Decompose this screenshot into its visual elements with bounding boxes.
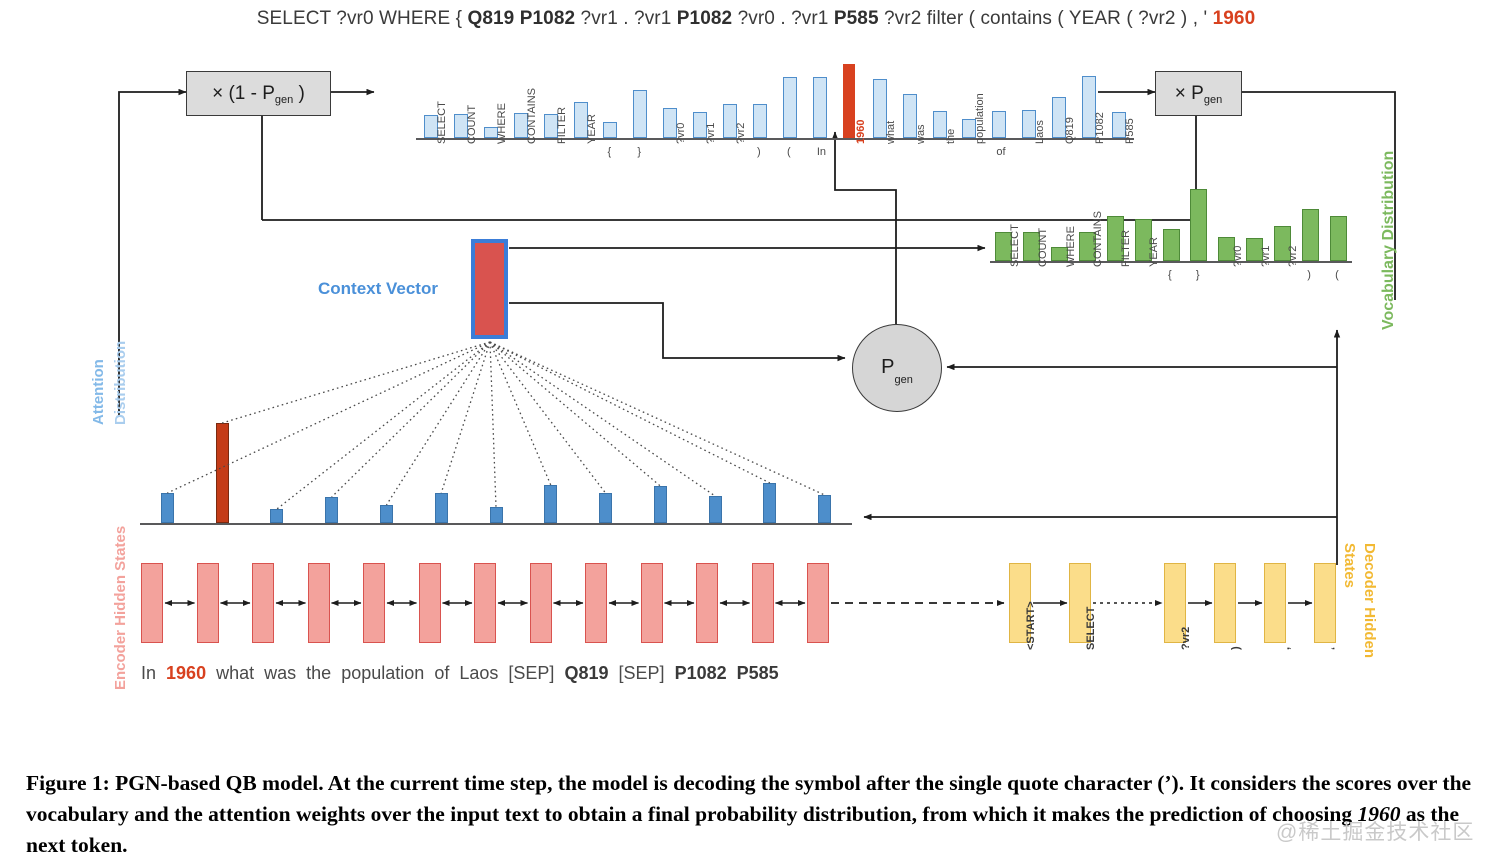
decoder-token-2: ?vr2 — [1180, 627, 1192, 650]
decoder-token-0: <START> — [1025, 601, 1037, 650]
figure-caption: Figure 1: PGN-based QB model. At the cur… — [26, 768, 1492, 862]
decoder-token-3: ) — [1230, 646, 1242, 650]
watermark-text: @稀土掘金技术社区 — [1276, 816, 1474, 846]
decoder-token-1: SELECT — [1085, 607, 1097, 650]
caption-segment-0: Figure 1: PGN-based QB model. At the cur… — [26, 771, 1471, 826]
decoder-token-5: ‘ — [1330, 647, 1342, 650]
decoder-token-labels: <START>SELECT?vr2),‘ — [0, 0, 1512, 865]
decoder-token-4: , — [1280, 647, 1292, 650]
